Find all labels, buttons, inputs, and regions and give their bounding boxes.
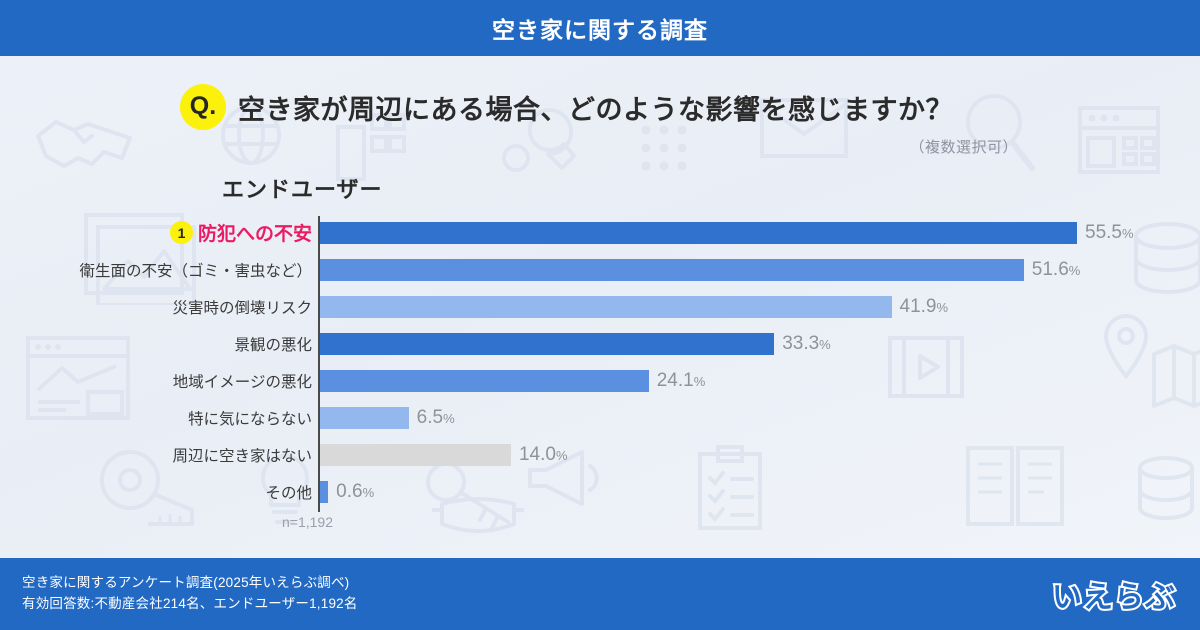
bar-category-label: 特に気にならない (188, 399, 312, 436)
bar-value-number: 6.5 (417, 407, 443, 428)
bar-value-number: 51.6 (1032, 259, 1069, 280)
bar (320, 222, 1077, 244)
bar-row: 衛生面の不安（ゴミ・害虫など）51.6% (0, 251, 1200, 288)
bar-row: 災害時の倒壊リスク41.9% (0, 288, 1200, 325)
footer-line-2: 有効回答数:不動産会社214名、エンドユーザー1,192名 (22, 594, 358, 615)
bar-value-label: 0.6% (336, 481, 374, 503)
bar-category-text: その他 (265, 481, 312, 503)
bar (320, 370, 649, 392)
bar (320, 296, 892, 318)
bar-category-text: 防犯への不安 (198, 219, 312, 246)
bar-chart: 1防犯への不安55.5%衛生面の不安（ゴミ・害虫など）51.6%災害時の倒壊リス… (0, 214, 1200, 514)
sample-size-label: n=1,192 (282, 514, 333, 530)
bar-value-number: 41.9 (900, 296, 937, 317)
bar-value-label: 41.9% (900, 296, 949, 318)
bar-value-percent-sign: % (1122, 226, 1134, 241)
bar-row: 景観の悪化33.3% (0, 325, 1200, 362)
bar-value-number: 0.6 (336, 481, 362, 502)
question-badge-label: Q. (190, 92, 216, 121)
bar-value-percent-sign: % (936, 300, 948, 315)
bar-category-text: 景観の悪化 (234, 333, 312, 355)
bar-container: 0.6% (320, 473, 374, 510)
bar-category-text: 地域イメージの悪化 (173, 370, 312, 392)
bar-value-label: 24.1% (657, 370, 706, 392)
bar-row: その他0.6% (0, 473, 1200, 510)
handshake-icon (30, 108, 140, 178)
rank-badge: 1 (170, 221, 193, 244)
bar-category-text: 周辺に空き家はない (172, 444, 312, 466)
multiple-choice-note: （複数選択可） (909, 136, 1018, 157)
bar-container: 33.3% (320, 325, 831, 362)
footer-line-1: 空き家に関するアンケート調査(2025年いえらぶ調べ) (22, 573, 358, 594)
bar-row: 特に気にならない6.5% (0, 399, 1200, 436)
footer-source-text: 空き家に関するアンケート調査(2025年いえらぶ調べ) 有効回答数:不動産会社2… (22, 573, 358, 615)
bar-value-label: 33.3% (782, 333, 831, 355)
bar-category-label: 衛生面の不安（ゴミ・害虫など） (79, 251, 312, 288)
chart-subtitle: エンドユーザー (222, 172, 383, 204)
bar (320, 407, 409, 429)
bar-value-percent-sign: % (1069, 263, 1081, 278)
bar-container: 6.5% (320, 399, 455, 436)
bar-value-percent-sign: % (443, 411, 455, 426)
bar-value-label: 51.6% (1032, 259, 1081, 281)
question-badge: Q. (180, 84, 226, 130)
bar-category-label: 地域イメージの悪化 (173, 362, 312, 399)
bar-category-label: 災害時の倒壊リスク (172, 288, 312, 325)
bar-value-label: 55.5% (1085, 222, 1134, 244)
bar-container: 51.6% (320, 251, 1080, 288)
magnifier-icon (960, 88, 1040, 178)
bar-category-text: 災害時の倒壊リスク (172, 296, 312, 318)
bar (320, 259, 1024, 281)
bar-row: 周辺に空き家はない14.0% (0, 436, 1200, 473)
page-title: 空き家に関する調査 (492, 11, 708, 45)
bar (320, 444, 511, 466)
bar-value-percent-sign: % (363, 485, 375, 500)
bar-container: 24.1% (320, 362, 705, 399)
question-block: Q. 空き家が周辺にある場合、どのような影響を感じますか？ (180, 84, 953, 130)
bar-container: 41.9% (320, 288, 948, 325)
bar-row: 1防犯への不安55.5% (0, 214, 1200, 251)
bar-value-percent-sign: % (819, 337, 831, 352)
bar-container: 55.5% (320, 214, 1134, 251)
bar-category-text: 衛生面の不安（ゴミ・害虫など） (79, 259, 312, 281)
storefront-icon (1074, 100, 1164, 180)
bar-row: 地域イメージの悪化24.1% (0, 362, 1200, 399)
bar-rows: 1防犯への不安55.5%衛生面の不安（ゴミ・害虫など）51.6%災害時の倒壊リス… (0, 214, 1200, 510)
bar-value-number: 14.0 (519, 444, 556, 465)
bar-value-number: 55.5 (1085, 222, 1122, 243)
bar-value-number: 33.3 (782, 333, 819, 354)
bar-value-label: 6.5% (417, 407, 455, 429)
bar-value-label: 14.0% (519, 444, 568, 466)
brand-logo-text: いえらぶ (1052, 572, 1176, 616)
bar-container: 14.0% (320, 436, 568, 473)
bar (320, 481, 328, 503)
page-header: 空き家に関する調査 (0, 0, 1200, 56)
bar-category-text: 特に気にならない (188, 407, 312, 429)
bar-category-label: 周辺に空き家はない (172, 436, 312, 473)
bar-category-label: 景観の悪化 (234, 325, 312, 362)
brand-logo: いえらぶ (1052, 572, 1176, 616)
question-text: 空き家が周辺にある場合、どのような影響を感じますか？ (238, 88, 953, 127)
bar-value-percent-sign: % (556, 448, 568, 463)
infographic-page: 空き家に関する調査 Q. 空き家が周辺にある場合、どのような影響を感じますか？ … (0, 0, 1200, 630)
bar (320, 333, 774, 355)
bar-category-label: その他 (265, 473, 312, 510)
bar-category-label: 1防犯への不安 (170, 214, 312, 251)
bar-value-percent-sign: % (694, 374, 706, 389)
bar-value-number: 24.1 (657, 370, 694, 391)
page-footer: 空き家に関するアンケート調査(2025年いえらぶ調べ) 有効回答数:不動産会社2… (0, 558, 1200, 630)
